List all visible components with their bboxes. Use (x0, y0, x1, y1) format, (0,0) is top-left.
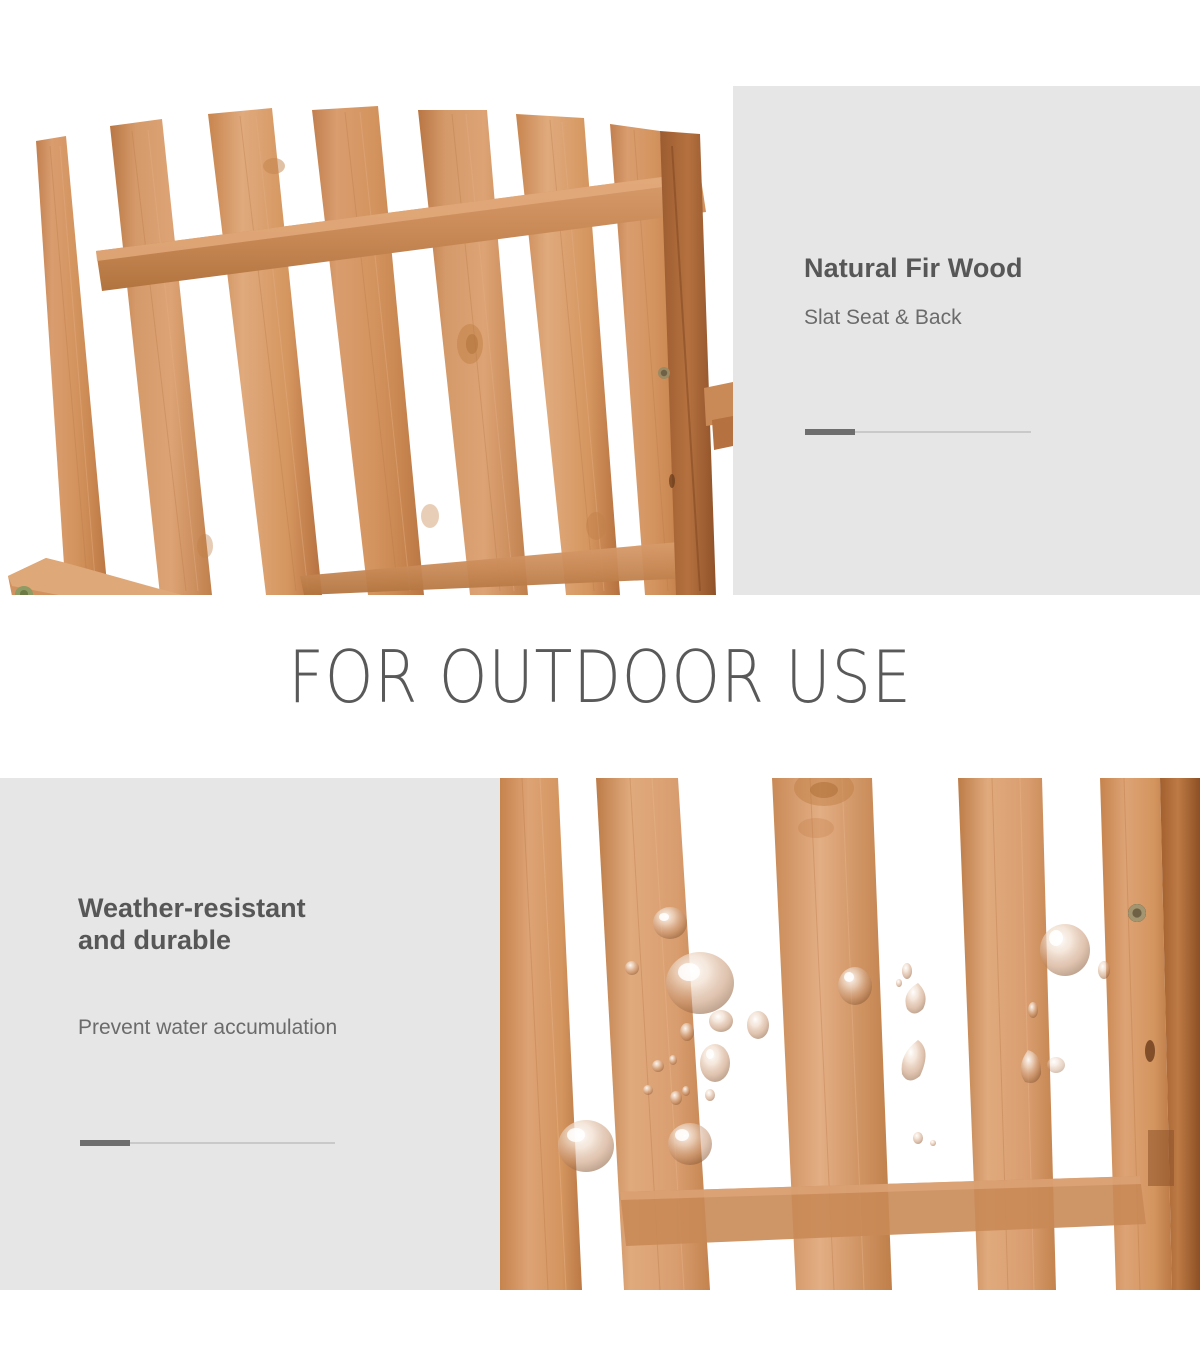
rule-fill (805, 429, 855, 435)
feature-title-line-2: and durable (78, 925, 231, 955)
headline-band: FOR OUTDOOR USE (0, 595, 1200, 778)
feature-title-weather-resistant: Weather-resistant and durable (78, 893, 428, 957)
feature-subtitle-slat-seat-back: Slat Seat & Back (804, 306, 962, 330)
water-droplets-illustration (500, 778, 1200, 1290)
top-feature-section: Natural Fir Wood Slat Seat & Back (0, 86, 1200, 595)
feature-title-line-1: Weather-resistant (78, 893, 306, 923)
progress-rule-bottom (80, 1140, 335, 1146)
feature-title-natural-fir-wood: Natural Fir Wood (804, 253, 1023, 284)
product-feature-page: Natural Fir Wood Slat Seat & Back FOR OU… (0, 0, 1200, 1372)
top-text-panel: Natural Fir Wood Slat Seat & Back (733, 86, 1200, 595)
photo-wooden-chair-slat-back (0, 86, 733, 595)
progress-rule-top (805, 429, 1031, 435)
bottom-text-panel: Weather-resistant and durable Prevent wa… (0, 778, 500, 1290)
feature-subtitle-prevent-water-accumulation: Prevent water accumulation (78, 1016, 337, 1040)
bottom-feature-section: Weather-resistant and durable Prevent wa… (0, 778, 1200, 1290)
page-headline: FOR OUTDOOR USE (84, 635, 1116, 719)
rule-fill (80, 1140, 130, 1146)
photo-water-droplets-on-wood (500, 778, 1200, 1290)
chair-illustration (0, 86, 733, 595)
